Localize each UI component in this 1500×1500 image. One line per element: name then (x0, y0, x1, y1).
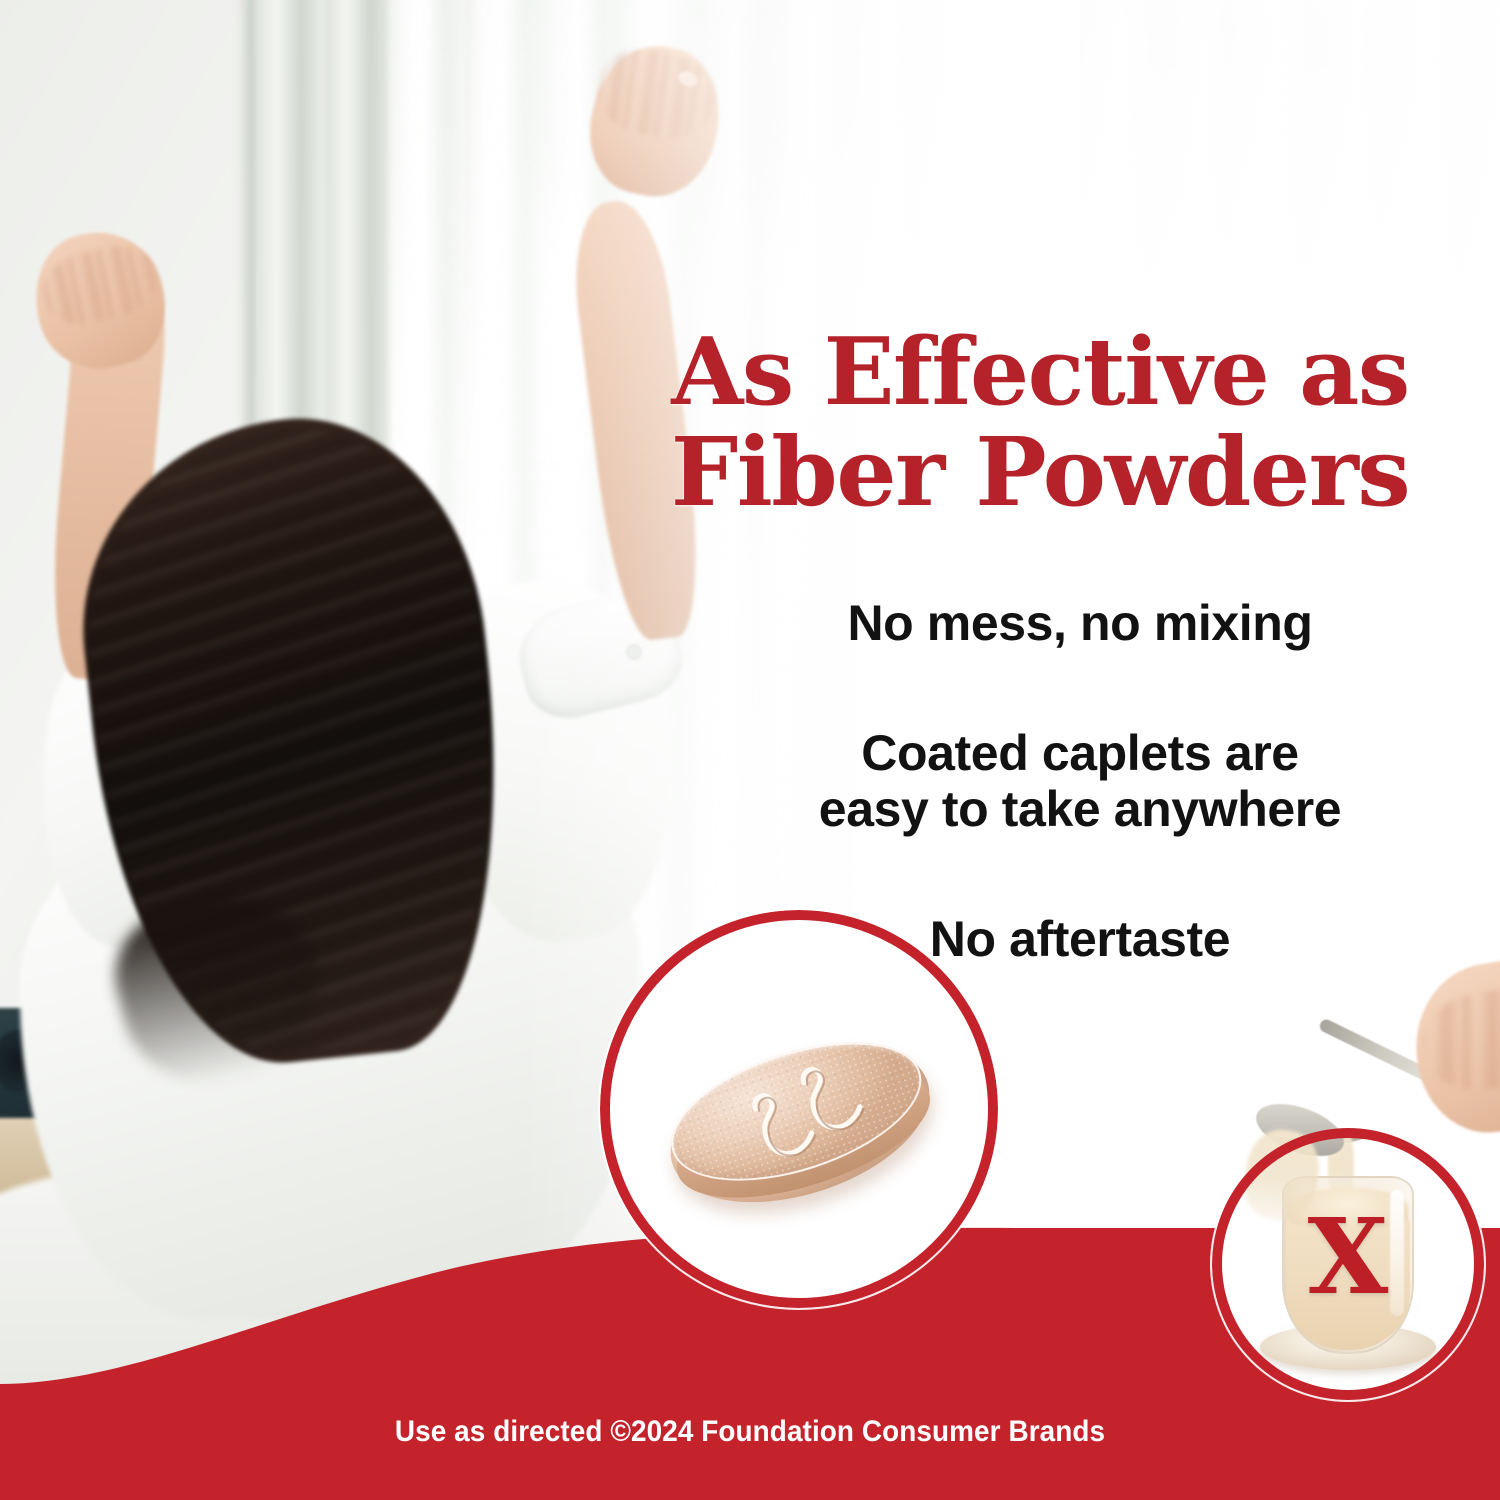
x-icon: X (1212, 1202, 1484, 1312)
hand-with-spoon (1380, 962, 1500, 1192)
benefit-line: No mess, no mixing (847, 595, 1312, 651)
headline-line-1: As Effective as (640, 322, 1440, 422)
page-title: As Effective as Fiber Powders (640, 322, 1440, 523)
benefit-no-mess: No mess, no mixing (700, 595, 1460, 651)
benefit-line: easy to take anywhere (819, 781, 1341, 837)
caplet-product-image (600, 910, 998, 1308)
advertisement-image: As Effective as Fiber Powders No mess, n… (0, 0, 1500, 1500)
benefit-line: Coated caplets are (861, 725, 1298, 781)
benefit-coated-caplets: Coated caplets are easy to take anywhere (700, 725, 1460, 837)
caplet-ll-imprint-icon (651, 1014, 950, 1232)
caplet-pill (651, 1014, 950, 1232)
headline-line-2: Fiber Powders (640, 422, 1440, 524)
legal-footnote: Use as directed ©2024 Foundation Consume… (53, 1415, 1448, 1449)
caplet-callout (600, 910, 998, 1308)
